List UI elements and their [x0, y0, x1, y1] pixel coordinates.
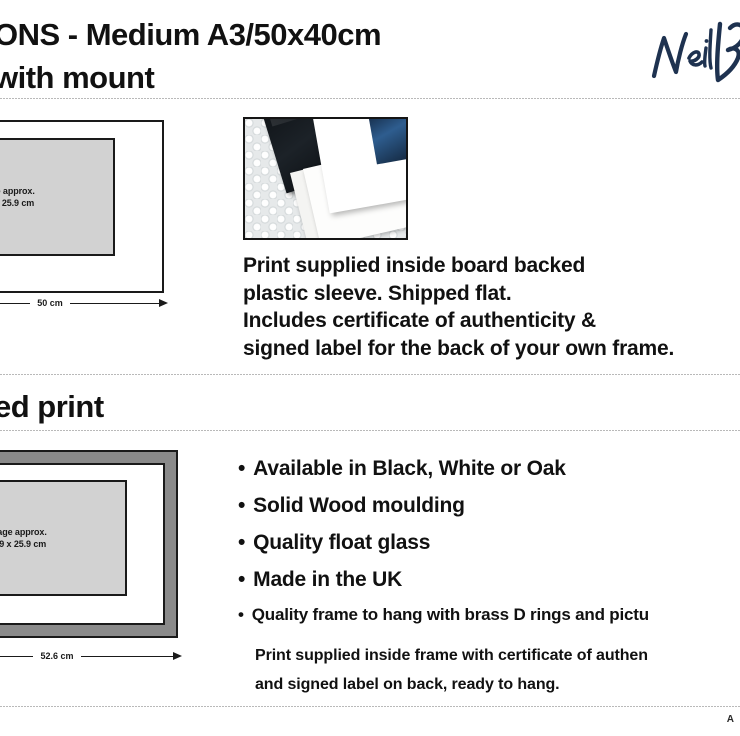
product-photo: [243, 117, 408, 240]
divider-top: [0, 98, 740, 99]
dimension-line-left: [0, 656, 33, 657]
mount-description-line1: Print supplied inside board backed: [243, 252, 740, 280]
frame-width-dimension: 52.6 cm: [0, 649, 182, 663]
frame-width-label: 52.6 cm: [33, 651, 80, 661]
mount-width-label: 50 cm: [30, 298, 70, 308]
frame-image-area: Image approx. 38.9 x 25.9 cm: [0, 480, 127, 596]
divider-frame: [0, 430, 740, 431]
list-item: •Quality float glass: [238, 524, 740, 561]
mount-outline: Image approx. 38.9 x 25.9 cm: [0, 120, 164, 293]
dimension-line-left: [0, 303, 30, 304]
mount-description-line2: plastic sleeve. Shipped flat.: [243, 280, 740, 308]
list-item-label: Solid Wood moulding: [253, 494, 465, 517]
frame-description-line2: and signed label on back, ready to hang.: [255, 670, 740, 699]
artist-signature: N: [648, 14, 740, 92]
mount-image-label: Image approx. 38.9 x 25.9 cm: [0, 185, 35, 210]
mount-description-line4: signed label for the back of your own fr…: [243, 335, 740, 363]
list-item-label: Available in Black, White or Oak: [253, 457, 566, 480]
arrow-right-icon: [159, 299, 168, 307]
frame-diagram: Image approx. 38.9 x 25.9 cm: [0, 450, 178, 638]
product-info-page: ONS - Medium A3/50x40cm with mount N Ima…: [0, 0, 740, 736]
frame-description: Print supplied inside frame with certifi…: [255, 641, 740, 699]
photo-content: [245, 119, 406, 238]
dimension-line-right: [70, 303, 160, 304]
list-item: •Solid Wood moulding: [238, 487, 740, 524]
divider-bottom: [0, 706, 740, 707]
list-item-label: Quality frame to hang with brass D rings…: [252, 605, 649, 624]
list-item-label: Quality float glass: [253, 531, 430, 554]
arrow-right-icon: [173, 652, 182, 660]
mount-image-label-line1: Image approx.: [0, 185, 35, 198]
frame-description-line1: Print supplied inside frame with certifi…: [255, 641, 740, 670]
mount-width-dimension: 50 cm: [0, 296, 168, 310]
bullet-icon: •: [238, 457, 245, 480]
bullet-icon: •: [238, 531, 245, 554]
divider-middle: [0, 374, 740, 375]
frame-section-heading: ed print: [0, 386, 104, 428]
page-subtitle: with mount: [0, 57, 154, 99]
frame-moulding: Image approx. 38.9 x 25.9 cm: [0, 450, 178, 638]
frame-feature-list: •Available in Black, White or Oak •Solid…: [238, 450, 740, 632]
mount-description: Print supplied inside board backed plast…: [243, 252, 740, 362]
list-item: •Made in the UK: [238, 561, 740, 598]
corner-mark: A: [727, 714, 734, 725]
frame-image-label: Image approx. 38.9 x 25.9 cm: [0, 526, 47, 551]
mount-diagram: Image approx. 38.9 x 25.9 cm: [0, 120, 164, 293]
page-title: ONS - Medium A3/50x40cm: [0, 14, 381, 56]
mount-window-artwork: [367, 117, 408, 164]
list-item-label: Made in the UK: [253, 568, 402, 591]
dimension-line-right: [81, 656, 174, 657]
mount-description-line3: Includes certificate of authenticity &: [243, 307, 740, 335]
frame-mount-area: Image approx. 38.9 x 25.9 cm: [0, 463, 165, 625]
mount-image-label-line2: 38.9 x 25.9 cm: [0, 197, 35, 210]
bullet-icon: •: [238, 494, 245, 517]
signature-icon: [648, 14, 740, 92]
list-item: •Quality frame to hang with brass D ring…: [238, 598, 740, 632]
frame-image-label-line2: 38.9 x 25.9 cm: [0, 538, 47, 551]
list-item: •Available in Black, White or Oak: [238, 450, 740, 487]
bullet-icon: •: [238, 568, 245, 591]
mount-image-area: Image approx. 38.9 x 25.9 cm: [0, 138, 115, 256]
bullet-icon: •: [238, 605, 244, 624]
frame-image-label-line1: Image approx.: [0, 526, 47, 539]
